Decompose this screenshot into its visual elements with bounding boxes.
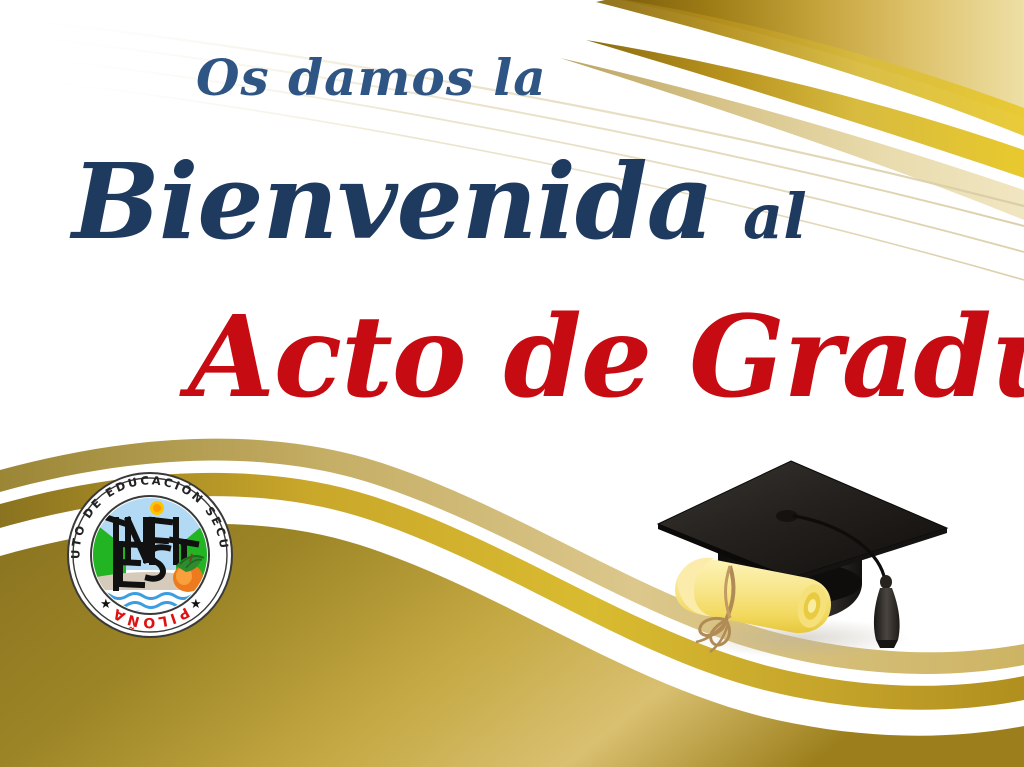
headline-word-al: al [743, 186, 807, 248]
graduation-invitation-poster: INSTITUTO DE EDUCACIÓN SECUNDARIA PILOÑA… [0, 0, 1024, 767]
seal-star-right: ★ [190, 597, 202, 612]
headline-line-3: Acto de Graduación [188, 302, 1024, 414]
seal-star-left: ★ [100, 597, 112, 612]
headline-line-1: Os damos la [196, 48, 547, 107]
headline-line-2: Bienvenida al [72, 150, 807, 254]
headline-word-bienvenida: Bienvenida [72, 150, 713, 254]
